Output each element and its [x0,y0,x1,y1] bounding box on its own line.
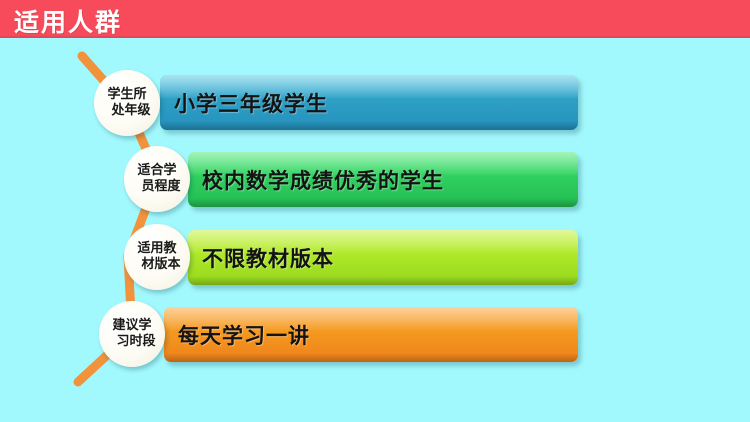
bar-3-label: 不限教材版本 [202,243,334,273]
bar-lowlight [160,121,578,130]
circle-label-2[interactable]: 适合学 员程度 [124,146,190,212]
bar-lowlight [188,276,578,285]
bar-lowlight [164,353,578,362]
circle-label-1[interactable]: 学生所 处年级 [94,70,160,136]
circle-4-line2: 习时段 [116,334,155,350]
circle-label-4[interactable]: 建议学 习时段 [99,301,165,367]
circle-1-line1: 学生所 [107,87,146,103]
slide-canvas: 适用人群 小学三年级学生 学生所 处年级 校内数学成绩优秀的学生 适合学 员程度 [0,0,750,422]
circle-1-line2: 处年级 [111,103,150,119]
circle-2-line2: 员程度 [141,179,180,195]
bar-lowlight [188,198,578,207]
circle-3-line2: 材版本 [141,257,180,273]
bar-2-label: 校内数学成绩优秀的学生 [202,165,444,195]
circle-4-line1: 建议学 [112,318,151,334]
bar-4-label: 每天学习一讲 [178,320,310,350]
circle-label-3[interactable]: 适用教 材版本 [124,224,190,290]
page-title: 适用人群 [14,3,122,39]
circle-2-line1: 适合学 [137,163,176,179]
circle-3-line1: 适用教 [137,241,176,257]
bar-1-label: 小学三年级学生 [174,88,328,118]
